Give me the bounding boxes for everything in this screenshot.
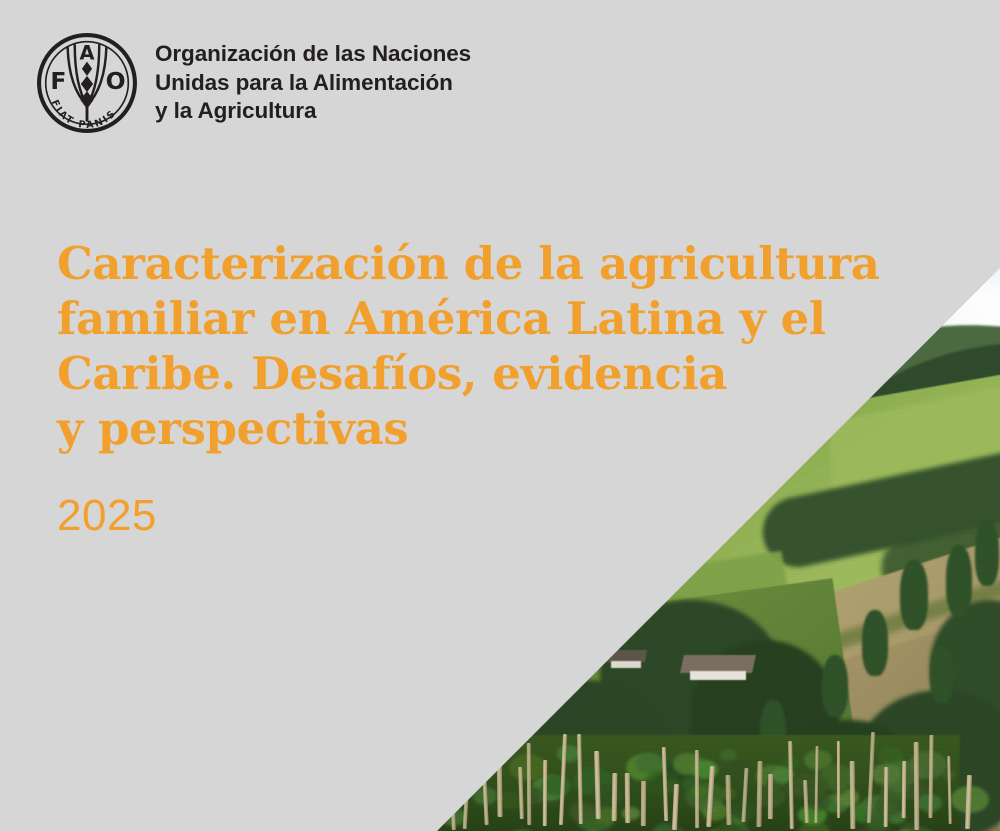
svg-text:F: F [50,67,66,95]
conifer-tree [900,560,928,630]
crop-foliage [792,773,828,799]
farmhouse-wall [690,671,746,680]
wooden-stake [837,741,841,818]
page-title: Caracterización de la agricultura famili… [57,236,887,456]
wooden-stake [448,741,456,830]
conifer-tree [946,545,972,617]
crop-foliage [423,772,440,784]
wooden-stake [768,774,773,819]
conifer-tree [975,520,999,586]
wooden-stake [850,761,855,829]
crop-foliage [410,826,428,831]
crop-foliage [470,760,490,775]
wooden-stake [429,729,436,820]
crop-foliage [427,764,453,782]
wooden-stake [901,761,905,818]
fao-header: F A O FIAT PANIS Organización de las Nac… [36,32,471,134]
wooden-stake [611,772,617,820]
wooden-stake [913,742,919,830]
svg-text:O: O [106,67,126,95]
wooden-stake [695,750,699,828]
fao-logo-icon: F A O FIAT PANIS [36,32,138,134]
crop-foliage [409,824,439,831]
wooden-stake [625,773,630,823]
organization-name: Organización de las Naciones Unidas para… [155,32,471,126]
svg-text:A: A [80,42,95,65]
crop-foliage [569,802,597,822]
wooden-stake [928,735,933,818]
wooden-stake [496,731,503,817]
farmhouse-wall [611,661,641,668]
conifer-tree [822,655,848,717]
wooden-stake [641,781,646,826]
publication-year: 2025 [57,490,157,542]
conifer-tree [862,610,888,676]
crop-foliage [451,754,491,783]
conifer-tree [930,645,954,703]
crop-foliage [691,786,708,798]
publication-cover: F A O FIAT PANIS Organización de las Nac… [0,0,1000,831]
crop-foliage [879,747,904,765]
